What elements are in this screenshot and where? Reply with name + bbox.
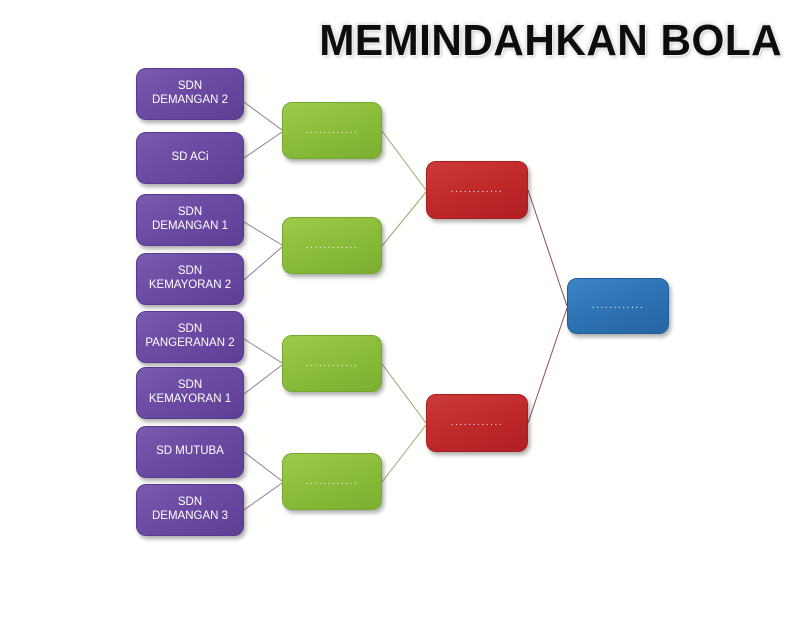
- connector-r2-2: [382, 192, 426, 246]
- bracket-node-round2-1[interactable]: ............: [282, 102, 382, 159]
- connector-r2-1: [382, 131, 426, 190]
- bracket-node-round3-2[interactable]: ............: [426, 394, 528, 452]
- bracket-node-round2-2[interactable]: ............: [282, 217, 382, 274]
- bracket-node-label: ............: [283, 240, 381, 252]
- page-title: MEMINDAHKAN BOLA: [319, 16, 780, 66]
- connector-r1-4: [244, 247, 282, 280]
- connector-r1-1: [244, 102, 282, 130]
- bracket-node-round1-1[interactable]: SDN DEMANGAN 2: [136, 68, 244, 120]
- bracket-node-round1-8[interactable]: SDN DEMANGAN 3: [136, 484, 244, 536]
- bracket-node-round1-2[interactable]: SD ACi: [136, 132, 244, 184]
- bracket-node-round2-3[interactable]: ............: [282, 335, 382, 392]
- connector-r2-3: [382, 364, 426, 423]
- bracket-connectors: [0, 0, 800, 619]
- bracket-node-label: SD ACi: [141, 151, 239, 165]
- connector-r1-7: [244, 452, 282, 481]
- connector-r3-1: [528, 190, 567, 306]
- bracket-node-label: SDN DEMANGAN 2: [141, 80, 239, 107]
- bracket-node-label: ............: [427, 184, 527, 196]
- bracket-node-round3-1[interactable]: ............: [426, 161, 528, 219]
- connector-r1-3: [244, 222, 282, 245]
- bracket-node-round1-5[interactable]: SDN PANGERANAN 2: [136, 311, 244, 363]
- bracket-node-round1-7[interactable]: SD MUTUBA: [136, 426, 244, 478]
- bracket-node-round1-4[interactable]: SDN KEMAYORAN 2: [136, 253, 244, 305]
- bracket-node-label: ............: [283, 476, 381, 488]
- bracket-node-label: SD MUTUBA: [141, 445, 239, 459]
- bracket-node-label: ............: [283, 358, 381, 370]
- bracket-node-label: SDN KEMAYORAN 1: [141, 379, 239, 406]
- bracket-node-round2-4[interactable]: ............: [282, 453, 382, 510]
- connector-r2-4: [382, 425, 426, 482]
- bracket-node-label: SDN KEMAYORAN 2: [141, 265, 239, 292]
- bracket-node-round1-3[interactable]: SDN DEMANGAN 1: [136, 194, 244, 246]
- bracket-slide: MEMINDAHKAN BOLA SDN DEMANGAN 2: [0, 0, 800, 619]
- connector-r1-2: [244, 132, 282, 158]
- bracket-node-label: ............: [568, 300, 668, 312]
- bracket-node-label: SDN DEMANGAN 1: [141, 206, 239, 233]
- bracket-node-round1-6[interactable]: SDN KEMAYORAN 1: [136, 367, 244, 419]
- bracket-node-label: ............: [427, 417, 527, 429]
- bracket-node-label: SDN PANGERANAN 2: [141, 323, 239, 350]
- connector-r1-8: [244, 483, 282, 510]
- connector-r1-6: [244, 365, 282, 394]
- bracket-node-label: SDN DEMANGAN 3: [141, 496, 239, 523]
- bracket-node-label: ............: [283, 125, 381, 137]
- connector-r3-2: [528, 308, 567, 423]
- bracket-node-final[interactable]: ............: [567, 278, 669, 334]
- connector-r1-5: [244, 339, 282, 363]
